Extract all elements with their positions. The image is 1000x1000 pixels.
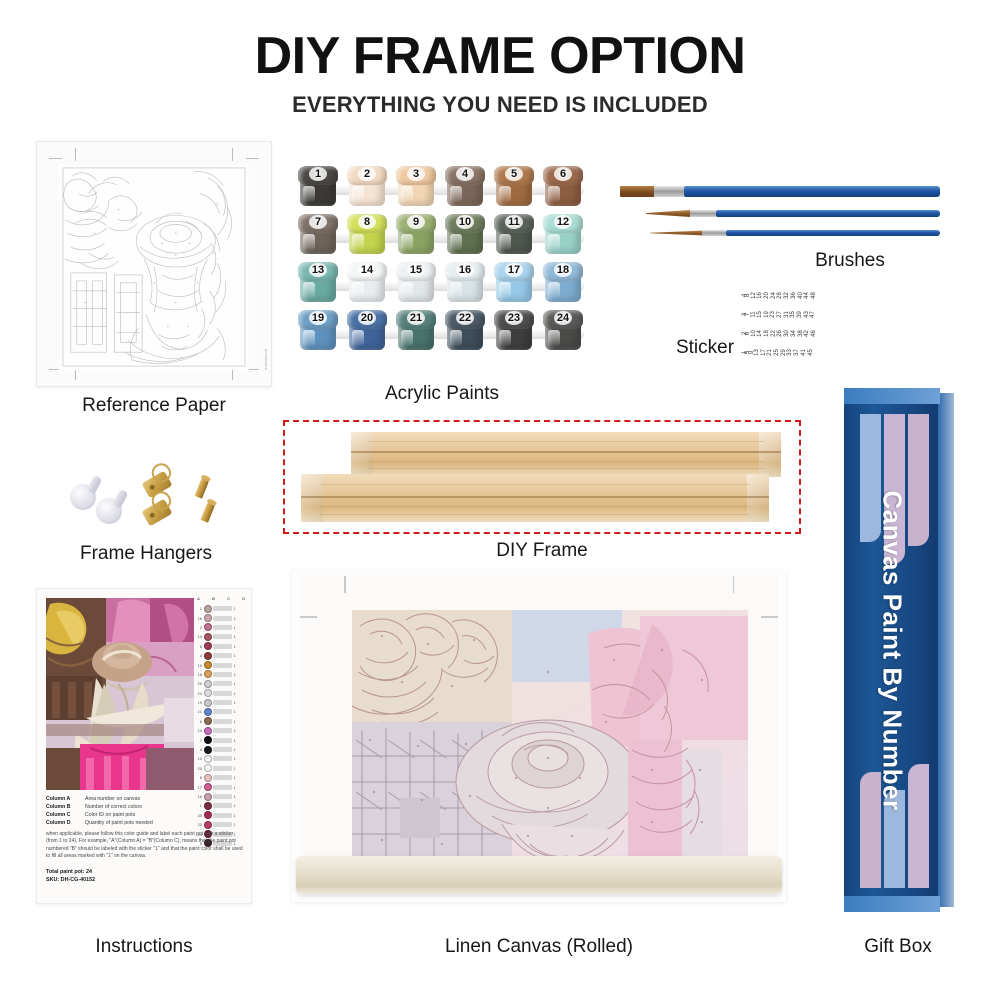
- caption-brushes: Brushes: [760, 250, 940, 272]
- caption-diy-frame: DIY Frame: [430, 540, 654, 562]
- legend-area-number: 1: [196, 606, 202, 611]
- legend-color-code: [213, 709, 232, 714]
- legend-row: 81: [195, 717, 247, 726]
- paint-pot: 3: [396, 166, 436, 208]
- frame-hangers-item: [66, 470, 226, 535]
- legend-area-number: 29: [196, 681, 202, 686]
- legend-row: 291: [195, 679, 247, 688]
- caption-sticker: Sticker: [650, 337, 760, 359]
- legend-quantity: 1: [234, 616, 239, 621]
- reference-paper-item: REFERENCE: [36, 141, 272, 387]
- paint-pot-number: 14: [347, 264, 387, 276]
- legend-color-code: [213, 756, 232, 761]
- paint-pot-number: 24: [543, 312, 583, 324]
- paint-pot-gloss: [499, 186, 511, 202]
- legend-color-code: [213, 747, 232, 752]
- legend-color-code: [213, 766, 232, 771]
- paint-pot-number: 6: [543, 168, 583, 180]
- sticker-number: 46: [807, 330, 822, 337]
- caption-frame-hangers: Frame Hangers: [46, 543, 246, 565]
- caption-linen-canvas: Linen Canvas (Rolled): [292, 936, 786, 958]
- paint-pot-number: 15: [396, 264, 436, 276]
- legend-area-number: 10: [196, 756, 202, 761]
- paint-pot: 6: [543, 166, 583, 208]
- paint-pot-gloss: [499, 282, 511, 298]
- legend-headers: ABCD: [195, 596, 247, 604]
- paint-pot-number: 18: [543, 264, 583, 276]
- legend-color-swatch: [204, 783, 212, 791]
- legend-quantity: 1: [234, 756, 239, 761]
- legend-area-number: 8: [196, 644, 202, 649]
- paint-pot: 23: [494, 310, 534, 352]
- paint-pot: 14: [347, 262, 387, 304]
- paint-pot-gloss: [352, 282, 364, 298]
- screw-icon: [195, 477, 210, 499]
- legend-row: 201: [195, 764, 247, 773]
- legend-quantity: 1: [234, 681, 239, 686]
- legend-quantity: 1: [234, 719, 239, 724]
- sticker-number: 47: [806, 311, 821, 318]
- d-ring-hanger-icon: [141, 499, 172, 527]
- stretcher-bar: [301, 474, 769, 522]
- legend-color-code: [213, 672, 232, 677]
- paint-pot-gloss: [401, 186, 413, 202]
- instructions-column-desc: Number of correct colors: [85, 804, 142, 810]
- paint-pot-number: 11: [494, 216, 534, 228]
- paint-pot: 13: [298, 262, 338, 304]
- legend-area-number: 8: [196, 719, 202, 724]
- instructions-column-name: Column C: [46, 812, 80, 818]
- paint-pot: 10: [445, 214, 485, 256]
- instructions-column-line: Column DQuantity of paint pots needed: [46, 819, 246, 826]
- legend-color-code: [213, 653, 232, 658]
- legend-color-swatch: [204, 736, 212, 744]
- caption-instructions: Instructions: [36, 936, 252, 958]
- instructions-column-line: Column AArea number on canvas: [46, 795, 246, 802]
- instructions-column-name: Column A: [46, 796, 80, 802]
- legend-color-swatch: [204, 605, 212, 613]
- legend-area-number: 10: [196, 728, 202, 733]
- legend-color-swatch: [204, 680, 212, 688]
- legend-color-swatch: [204, 699, 212, 707]
- legend-color-swatch: [204, 774, 212, 782]
- canvas-numbered-art: [352, 610, 748, 862]
- legend-area-number: 18: [196, 672, 202, 677]
- instructions-text-block: Column AArea number on canvasColumn BNum…: [46, 795, 246, 884]
- paint-pot-number: 10: [445, 216, 485, 228]
- legend-color-swatch: [204, 708, 212, 716]
- canvas-sheet: [300, 576, 778, 866]
- paint-pot-strip: [300, 330, 584, 339]
- diy-frame-item: [283, 420, 801, 534]
- sticker-row: 3711151923273135394347: [744, 307, 812, 322]
- paint-pot-strip: [300, 282, 584, 291]
- legend-quantity: 1: [234, 709, 239, 714]
- legend-color-code: [213, 700, 232, 705]
- paint-pot: 11: [494, 214, 534, 256]
- legend-row: 71: [195, 735, 247, 744]
- legend-row: 101: [195, 726, 247, 735]
- legend-area-number: 8: [196, 775, 202, 780]
- legend-row: 181: [195, 670, 247, 679]
- brushes-item: [620, 172, 940, 252]
- legend-area-number: 9: [196, 747, 202, 752]
- paint-pot: 17: [494, 262, 534, 304]
- paint-pot-gloss: [303, 330, 315, 346]
- legend-area-number: 10: [196, 634, 202, 639]
- legend-area-number: 21: [196, 709, 202, 714]
- paint-pot: 7: [298, 214, 338, 256]
- paint-pot-gloss: [450, 234, 462, 250]
- legend-row: 101: [195, 632, 247, 641]
- instructions-sku: SKU: DH-CG-40152: [46, 876, 246, 884]
- legend-quantity: 1: [234, 634, 239, 639]
- linen-canvas-item: [292, 570, 786, 902]
- page-subtitle: EVERYTHING YOU NEED IS INCLUDED: [0, 92, 1000, 118]
- legend-color-swatch: [204, 727, 212, 735]
- instructions-column-name: Column B: [46, 804, 80, 810]
- legend-color-swatch: [204, 614, 212, 622]
- paint-pot: 5: [494, 166, 534, 208]
- legend-quantity: 1: [234, 775, 239, 780]
- paint-pot: 18: [543, 262, 583, 304]
- paint-pot-number: 16: [445, 264, 485, 276]
- instructions-column-desc: Area number on canvas: [85, 796, 140, 802]
- legend-color-code: [213, 738, 232, 743]
- paint-pot-gloss: [352, 330, 364, 346]
- instructions-column-line: Column CColor ID on paint pots: [46, 811, 246, 818]
- paint-pot-gloss: [499, 234, 511, 250]
- paint-pot: 24: [543, 310, 583, 352]
- paint-pot-gloss: [401, 330, 413, 346]
- paint-pot-number: 9: [396, 216, 436, 228]
- legend-color-code: [213, 606, 232, 611]
- legend-quantity: 1: [234, 606, 239, 611]
- legend-area-number: 7: [196, 738, 202, 743]
- paint-pot-gloss: [548, 234, 560, 250]
- instructions-column-desc: Color ID on paint pots: [85, 812, 135, 818]
- legend-row: 211: [195, 707, 247, 716]
- legend-row: 81: [195, 642, 247, 651]
- sticker-number: 45: [803, 349, 818, 356]
- paint-pot-number: 13: [298, 264, 338, 276]
- paint-pot-number: 23: [494, 312, 534, 324]
- paint-pot-gloss: [548, 282, 560, 298]
- legend-color-swatch: [204, 642, 212, 650]
- instructions-note: when applicable, please follow this colo…: [46, 831, 246, 861]
- legend-color-code: [213, 616, 232, 621]
- legend-color-swatch: [204, 623, 212, 631]
- legend-header: D: [242, 596, 245, 604]
- legend-quantity: 1: [234, 653, 239, 658]
- gift-box-title: Canvas Paint By Number: [844, 388, 940, 912]
- legend-header: C: [227, 596, 230, 604]
- reference-paper-line-art: [59, 164, 249, 370]
- caption-reference-paper: Reference Paper: [36, 395, 272, 417]
- legend-color-swatch: [204, 746, 212, 754]
- gift-box-front: Canvas Paint By Number: [844, 388, 940, 912]
- legend-quantity: 1: [234, 625, 239, 630]
- product-infographic: DIY FRAME OPTION EVERYTHING YOU NEED IS …: [0, 0, 1000, 1000]
- legend-row: 241: [195, 689, 247, 698]
- legend-color-swatch: [204, 717, 212, 725]
- legend-row: 101: [195, 660, 247, 669]
- paint-pot-number: 8: [347, 216, 387, 228]
- paint-pot-gloss: [548, 186, 560, 202]
- paint-pot: 1: [298, 166, 338, 208]
- paint-pot-number: 12: [543, 216, 583, 228]
- legend-row: 21: [195, 623, 247, 632]
- paint-pot: 21: [396, 310, 436, 352]
- sticker-number: 48: [807, 292, 822, 299]
- legend-color-code: [213, 785, 232, 790]
- legend-quantity: 1: [234, 700, 239, 705]
- instructions-note-text: when applicable, please follow this colo…: [46, 831, 246, 861]
- instructions-color-preview: [46, 598, 194, 790]
- legend-color-code: [213, 634, 232, 639]
- paint-pot-number: 4: [445, 168, 485, 180]
- paint-pot-number: 3: [396, 168, 436, 180]
- legend-row: 171: [195, 782, 247, 791]
- paint-pot: 4: [445, 166, 485, 208]
- paint-pot-strip: [300, 186, 584, 195]
- paint-pot-gloss: [303, 234, 315, 250]
- total-paint-pot: Total paint pot: 24: [46, 868, 246, 876]
- paint-pot: 12: [543, 214, 583, 256]
- gift-box-line1: Canvas: [878, 490, 908, 586]
- legend-row: 91: [195, 745, 247, 754]
- canvas-roll: [296, 856, 782, 894]
- instructions-column-line: Column BNumber of correct colors: [46, 803, 246, 810]
- legend-color-swatch: [204, 689, 212, 697]
- paint-pot-number: 21: [396, 312, 436, 324]
- paint-pot-row: 131415161718: [296, 262, 588, 304]
- legend-area-number: 17: [196, 785, 202, 790]
- legend-area-number: 4: [196, 653, 202, 658]
- paint-pot: 19: [298, 310, 338, 352]
- paint-pot: 2: [347, 166, 387, 208]
- instructions-column-key: Column AArea number on canvasColumn BNum…: [46, 795, 246, 826]
- legend-color-swatch: [204, 764, 212, 772]
- gift-box-side: [938, 393, 954, 907]
- caption-acrylic-paints: Acrylic Paints: [296, 383, 588, 405]
- paint-pot-row: 192021222324: [296, 310, 588, 352]
- gift-box-item: Canvas Paint By Number: [836, 388, 954, 912]
- screw-icon: [201, 501, 216, 523]
- legend-color-swatch: [204, 661, 212, 669]
- paint-pot-gloss: [352, 234, 364, 250]
- paint-pot-gloss: [450, 186, 462, 202]
- sticker-row: 4812162024283236404448: [744, 288, 812, 303]
- paint-pot-number: 2: [347, 168, 387, 180]
- legend-quantity: 1: [234, 728, 239, 733]
- legend-quantity: 1: [234, 747, 239, 752]
- instructions-totals: Total paint pot: 24 SKU: DH-CG-40152: [46, 868, 246, 884]
- paint-pot-gloss: [450, 330, 462, 346]
- paint-pot: 8: [347, 214, 387, 256]
- legend-row: 41: [195, 651, 247, 660]
- paint-pot: 15: [396, 262, 436, 304]
- legend-area-number: 2: [196, 625, 202, 630]
- paint-pot-number: 20: [347, 312, 387, 324]
- legend-area-number: 20: [196, 766, 202, 771]
- acrylic-paints-item: 123456789101112131415161718192021222324: [296, 166, 588, 356]
- paint-pot-gloss: [450, 282, 462, 298]
- legend-area-number: 24: [196, 691, 202, 696]
- paint-pot: 9: [396, 214, 436, 256]
- legend-row: 161: [195, 613, 247, 622]
- legend-row: 101: [195, 754, 247, 763]
- legend-quantity: 1: [234, 785, 239, 790]
- paint-pot-number: 5: [494, 168, 534, 180]
- paint-pot-number: 7: [298, 216, 338, 228]
- instructions-column-name: Column D: [46, 820, 80, 826]
- legend-row: 191: [195, 698, 247, 707]
- legend-color-swatch: [204, 652, 212, 660]
- legend-quantity: 1: [234, 738, 239, 743]
- paint-pot-number: 1: [298, 168, 338, 180]
- legend-color-code: [213, 644, 232, 649]
- legend-quantity: 1: [234, 672, 239, 677]
- paint-pot-gloss: [352, 186, 364, 202]
- paint-pot-row: 789101112: [296, 214, 588, 256]
- legend-area-number: 10: [196, 663, 202, 668]
- instructions-item: ABCD 11161211018141101181291241191211811…: [36, 588, 252, 904]
- paint-pot-gloss: [303, 186, 315, 202]
- legend-color-swatch: [204, 670, 212, 678]
- legend-row: 81: [195, 773, 247, 782]
- paint-pot-strip: [300, 234, 584, 243]
- legend-color-code: [213, 663, 232, 668]
- paint-pot-number: 19: [298, 312, 338, 324]
- instructions-column-desc: Quantity of paint pots needed: [85, 820, 153, 826]
- legend-area-number: 19: [196, 700, 202, 705]
- legend-quantity: 1: [234, 691, 239, 696]
- legend-quantity: 1: [234, 644, 239, 649]
- caption-gift-box: Gift Box: [836, 936, 960, 958]
- legend-header: B: [212, 596, 215, 604]
- paint-pot: 22: [445, 310, 485, 352]
- legend-color-code: [213, 775, 232, 780]
- legend-color-swatch: [204, 755, 212, 763]
- gift-box-line2: Paint By Number: [878, 593, 908, 810]
- page-title: DIY FRAME OPTION: [0, 26, 1000, 86]
- legend-color-code: [213, 719, 232, 724]
- legend-color-swatch: [204, 633, 212, 641]
- legend-header: A: [197, 596, 200, 604]
- legend-color-code: [213, 728, 232, 733]
- legend-color-code: [213, 625, 232, 630]
- paint-pot-number: 17: [494, 264, 534, 276]
- legend-color-code: [213, 681, 232, 686]
- paint-pot-gloss: [548, 330, 560, 346]
- legend-color-code: [213, 691, 232, 696]
- stretcher-bar: [351, 432, 781, 477]
- paint-pot-gloss: [499, 330, 511, 346]
- paint-pot-gloss: [401, 282, 413, 298]
- legend-area-number: 16: [196, 616, 202, 621]
- paint-pot: 20: [347, 310, 387, 352]
- paint-pot-gloss: [401, 234, 413, 250]
- paint-pot: 16: [445, 262, 485, 304]
- legend-quantity: 1: [234, 766, 239, 771]
- paint-pot-number: 22: [445, 312, 485, 324]
- paint-pot-gloss: [303, 282, 315, 298]
- legend-row: 11: [195, 604, 247, 613]
- paint-pot-row: 123456: [296, 166, 588, 208]
- legend-quantity: 1: [234, 663, 239, 668]
- reference-paper-side-text: REFERENCE: [264, 349, 268, 370]
